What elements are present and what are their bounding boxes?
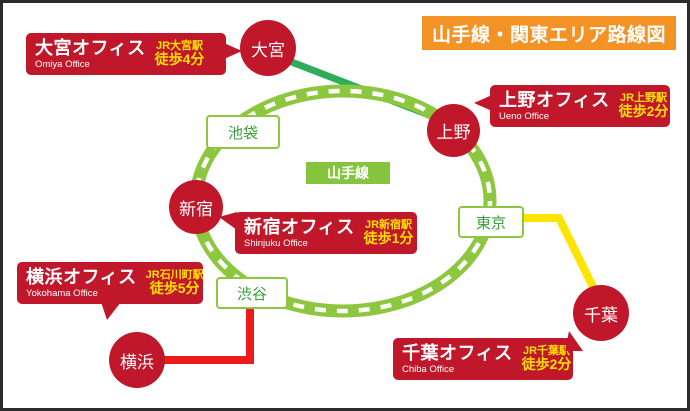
office-names-ueno: 上野オフィス Ueno Office	[499, 91, 610, 122]
yamanote-line-tag: 山手線	[306, 162, 390, 184]
office-walk-omiya: JR大宮駅 徒歩4分	[155, 41, 205, 67]
office-en-yokohama: Yokohama Office	[26, 289, 137, 299]
office-en-chiba: Chiba Office	[402, 365, 513, 375]
page-title: 山手線・関東エリア路線図	[422, 16, 676, 50]
station-box-tokyo[interactable]: 東京	[458, 206, 524, 238]
office-names-chiba: 千葉オフィス Chiba Office	[402, 344, 513, 375]
office-jp-ueno: 上野オフィス	[499, 91, 610, 109]
office-en-omiya: Omiya Office	[35, 60, 146, 70]
callout-tail-yokohama	[101, 302, 121, 320]
shibuya-yokohama-line	[153, 303, 250, 360]
office-names-yokohama: 横浜オフィス Yokohama Office	[26, 268, 137, 299]
office-label-chiba[interactable]: 千葉オフィス Chiba Office JR千葉駅 徒歩2分	[393, 338, 573, 380]
walk-time-omiya: 徒歩4分	[155, 52, 205, 67]
office-label-omiya[interactable]: 大宮オフィス Omiya Office JR大宮駅 徒歩4分	[26, 33, 226, 75]
station-circle-yokohama[interactable]: 横浜	[109, 332, 165, 388]
station-circle-ueno[interactable]: 上野	[427, 104, 480, 157]
walk-time-ueno: 徒歩2分	[619, 104, 669, 119]
callout-tail-shinjuku	[219, 212, 237, 230]
route-map-canvas: 山手線・関東エリア路線図 山手線 大宮 上野 新宿 横浜 千葉 池袋 東京 渋谷…	[0, 0, 690, 411]
office-names-shinjuku: 新宿オフィス Shinjuku Office	[244, 218, 355, 249]
walk-time-shinjuku: 徒歩1分	[364, 231, 414, 246]
office-label-ueno[interactable]: 上野オフィス Ueno Office JR上野駅 徒歩2分	[490, 85, 670, 127]
office-jp-yokohama: 横浜オフィス	[26, 268, 137, 286]
callout-tail-chiba	[565, 331, 583, 351]
office-walk-chiba: JR千葉駅 徒歩2分	[522, 346, 572, 372]
station-box-ikebukuro[interactable]: 池袋	[206, 115, 280, 149]
office-en-shinjuku: Shinjuku Office	[244, 239, 355, 249]
station-circle-omiya[interactable]: 大宮	[240, 20, 296, 76]
office-walk-shinjuku: JR新宿駅 徒歩1分	[364, 220, 414, 246]
station-circle-shinjuku[interactable]: 新宿	[169, 180, 223, 234]
office-jp-chiba: 千葉オフィス	[402, 344, 513, 362]
office-walk-yokohama: JR石川町駅 徒歩5分	[146, 270, 204, 296]
office-names-omiya: 大宮オフィス Omiya Office	[35, 39, 146, 70]
office-label-yokohama[interactable]: 横浜オフィス Yokohama Office JR石川町駅 徒歩5分	[17, 262, 203, 304]
office-walk-ueno: JR上野駅 徒歩2分	[619, 93, 669, 119]
callout-tail-ueno	[474, 95, 492, 111]
office-jp-shinjuku: 新宿オフィス	[244, 218, 355, 236]
station-box-shibuya[interactable]: 渋谷	[216, 277, 288, 309]
office-label-shinjuku[interactable]: 新宿オフィス Shinjuku Office JR新宿駅 徒歩1分	[235, 212, 417, 254]
office-en-ueno: Ueno Office	[499, 112, 610, 122]
walk-time-yokohama: 徒歩5分	[146, 281, 204, 296]
callout-tail-omiya	[224, 43, 242, 59]
walk-time-chiba: 徒歩2分	[522, 357, 572, 372]
office-jp-omiya: 大宮オフィス	[35, 39, 146, 57]
